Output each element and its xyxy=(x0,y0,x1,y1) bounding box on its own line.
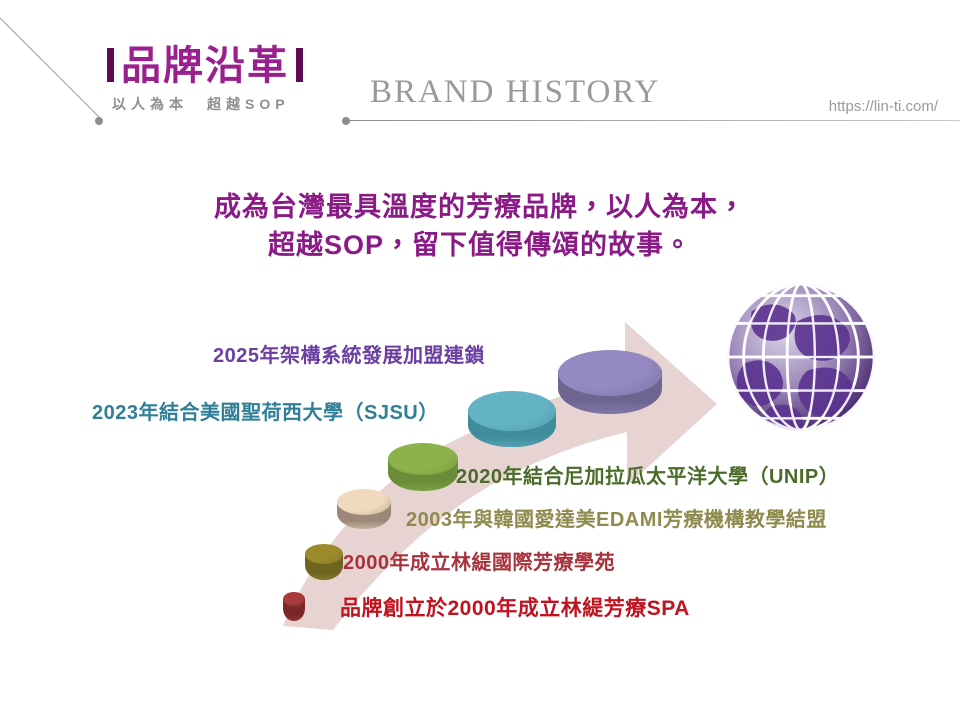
milestone-label-m2: 2000年成立林緹國際芳療學苑 xyxy=(343,546,615,575)
header-divider xyxy=(347,120,960,121)
milestone-disc-m4[interactable] xyxy=(388,443,458,499)
milestone-disc-m1-top xyxy=(283,592,305,606)
title-bar-left xyxy=(107,48,114,82)
milestone-disc-m2[interactable] xyxy=(305,544,343,586)
milestone-disc-m1[interactable] xyxy=(283,592,305,624)
header-dot-right xyxy=(342,117,350,125)
headline: 成為台灣最具溫度的芳療品牌，以人為本， 超越SOP，留下值得傳頌的故事。 xyxy=(0,188,960,265)
headline-line-2: 超越SOP，留下值得傳頌的故事。 xyxy=(0,226,960,264)
page-title-english: BRAND HISTORY xyxy=(370,74,660,111)
milestone-disc-m2-top xyxy=(305,544,343,564)
milestone-disc-m4-top xyxy=(388,443,458,475)
milestone-disc-m6[interactable] xyxy=(558,350,662,424)
milestone-disc-m3[interactable] xyxy=(337,489,391,537)
milestone-disc-m5[interactable] xyxy=(468,391,556,457)
milestone-disc-m5-top xyxy=(468,391,556,431)
milestone-label-m3: 2003年與韓國愛達美EDAMI芳療機構教學結盟 xyxy=(406,503,827,532)
headline-line-1: 成為台灣最具溫度的芳療品牌，以人為本， xyxy=(0,188,960,226)
header-dot-left xyxy=(95,117,103,125)
milestone-label-m6: 2025年架構系統發展加盟連鎖 xyxy=(213,339,485,368)
page-title: 品牌沿革 xyxy=(100,46,310,86)
milestone-disc-m6-top xyxy=(558,350,662,396)
page-title-text: 品牌沿革 xyxy=(121,44,289,88)
milestone-disc-m3-top xyxy=(337,489,391,515)
milestone-label-m4: 2020年結合尼加拉瓜太平洋大學（UNIP） xyxy=(456,460,839,489)
site-url[interactable]: https://lin-ti.com/ xyxy=(829,98,938,115)
milestone-label-m5: 2023年結合美國聖荷西大學（SJSU） xyxy=(92,396,439,425)
title-bar-right xyxy=(296,48,303,82)
milestone-label-m1: 品牌創立於2000年成立林緹芳療SPA xyxy=(340,592,690,622)
globe-icon xyxy=(712,268,890,446)
slide-canvas: 品牌沿革 以人為本 超越SOP BRAND HISTORY https://li… xyxy=(0,0,960,720)
page-subtitle: 以人為本 超越SOP xyxy=(112,94,290,114)
